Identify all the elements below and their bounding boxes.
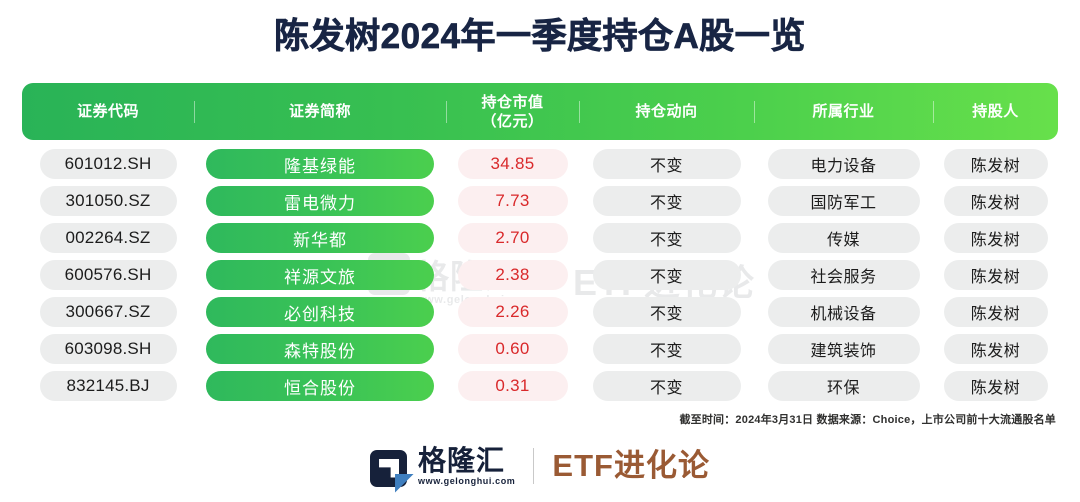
brand-divider (533, 448, 534, 484)
name-pill: 新华都 (206, 223, 434, 253)
holder-pill: 陈发树 (944, 223, 1048, 253)
industry-pill: 环保 (768, 371, 920, 401)
column-header-holder: 持股人 (933, 102, 1058, 121)
holder-pill: 陈发树 (944, 371, 1048, 401)
trend-pill: 不变 (593, 186, 741, 216)
cell-trend: 不变 (579, 297, 754, 327)
cell-holder: 陈发树 (933, 149, 1058, 179)
cell-holder: 陈发树 (933, 371, 1058, 401)
cell-holder: 陈发树 (933, 186, 1058, 216)
cell-name: 新华都 (194, 223, 446, 253)
cell-name: 隆基绿能 (194, 149, 446, 179)
cell-trend: 不变 (579, 371, 754, 401)
cell-name: 森特股份 (194, 334, 446, 364)
column-header-name-label: 证券简称 (289, 103, 351, 120)
name-pill: 雷电微力 (206, 186, 434, 216)
column-header-industry: 所属行业 (754, 102, 933, 121)
table-row: 300667.SZ 必创科技 2.26 不变 机械设备 陈发树 (22, 294, 1058, 330)
code-pill: 002264.SZ (40, 223, 177, 253)
cell-holder: 陈发树 (933, 223, 1058, 253)
column-header-value-label: 持仓市值 (481, 94, 543, 111)
industry-pill: 传媒 (768, 223, 920, 253)
name-pill: 隆基绿能 (206, 149, 434, 179)
table-row: 603098.SH 森特股份 0.60 不变 建筑装饰 陈发树 (22, 331, 1058, 367)
code-pill: 832145.BJ (40, 371, 177, 401)
table-row: 301050.SZ 雷电微力 7.73 不变 国防军工 陈发树 (22, 183, 1058, 219)
table-row: 002264.SZ 新华都 2.70 不变 传媒 陈发树 (22, 220, 1058, 256)
column-header-name: 证券简称 (194, 102, 446, 121)
cell-code: 002264.SZ (22, 223, 194, 253)
industry-pill: 建筑装饰 (768, 334, 920, 364)
trend-pill: 不变 (593, 297, 741, 327)
column-header-trend-label: 持仓动向 (635, 103, 697, 120)
column-header-value: 持仓市值 （亿元） (446, 93, 579, 131)
cell-name: 祥源文旅 (194, 260, 446, 290)
code-pill: 603098.SH (40, 334, 177, 364)
column-header-code: 证券代码 (22, 102, 194, 121)
cell-industry: 传媒 (754, 223, 933, 253)
value-pill: 2.38 (458, 260, 568, 290)
cell-code: 601012.SH (22, 149, 194, 179)
cell-industry: 机械设备 (754, 297, 933, 327)
table-header-row: 证券代码 证券简称 持仓市值 （亿元） 持仓动向 所属行业 持股人 (22, 83, 1058, 140)
cell-industry: 国防军工 (754, 186, 933, 216)
cell-value: 2.70 (446, 223, 579, 253)
brand-name: 格隆汇 (418, 446, 515, 476)
cell-name: 恒合股份 (194, 371, 446, 401)
cell-trend: 不变 (579, 223, 754, 253)
holder-pill: 陈发树 (944, 334, 1048, 364)
value-pill: 2.70 (458, 223, 568, 253)
cell-value: 2.26 (446, 297, 579, 327)
code-pill: 601012.SH (40, 149, 177, 179)
cell-trend: 不变 (579, 260, 754, 290)
holder-pill: 陈发树 (944, 149, 1048, 179)
name-pill: 恒合股份 (206, 371, 434, 401)
cell-code: 301050.SZ (22, 186, 194, 216)
cell-code: 300667.SZ (22, 297, 194, 327)
holder-pill: 陈发树 (944, 186, 1048, 216)
cell-industry: 环保 (754, 371, 933, 401)
holder-pill: 陈发树 (944, 260, 1048, 290)
code-pill: 300667.SZ (40, 297, 177, 327)
industry-pill: 社会服务 (768, 260, 920, 290)
cell-value: 34.85 (446, 149, 579, 179)
cell-trend: 不变 (579, 334, 754, 364)
industry-pill: 国防军工 (768, 186, 920, 216)
table-row: 601012.SH 隆基绿能 34.85 不变 电力设备 陈发树 (22, 146, 1058, 182)
column-header-trend: 持仓动向 (579, 102, 754, 121)
column-header-code-label: 证券代码 (77, 103, 139, 120)
cell-value: 7.73 (446, 186, 579, 216)
cell-value: 0.60 (446, 334, 579, 364)
column-header-industry-label: 所属行业 (812, 103, 874, 120)
cell-code: 832145.BJ (22, 371, 194, 401)
product-name: ETF进化论 (552, 449, 710, 483)
name-pill: 必创科技 (206, 297, 434, 327)
cell-industry: 建筑装饰 (754, 334, 933, 364)
cell-industry: 社会服务 (754, 260, 933, 290)
gelonghui-text: 格隆汇 www.gelonghui.com (418, 446, 515, 487)
code-pill: 600576.SH (40, 260, 177, 290)
trend-pill: 不变 (593, 149, 741, 179)
industry-pill: 电力设备 (768, 149, 920, 179)
name-pill: 森特股份 (206, 334, 434, 364)
page-title: 陈发树2024年一季度持仓A股一览 (0, 14, 1080, 60)
table-row: 832145.BJ 恒合股份 0.31 不变 环保 陈发树 (22, 368, 1058, 404)
cell-name: 雷电微力 (194, 186, 446, 216)
table-body: 601012.SH 隆基绿能 34.85 不变 电力设备 陈发树 301050.… (22, 146, 1058, 404)
cell-value: 2.38 (446, 260, 579, 290)
holder-pill: 陈发树 (944, 297, 1048, 327)
cell-trend: 不变 (579, 186, 754, 216)
column-header-value-unit: （亿元） (446, 112, 579, 131)
column-header-holder-label: 持股人 (972, 103, 1019, 120)
gelonghui-logo-icon (370, 450, 407, 487)
name-pill: 祥源文旅 (206, 260, 434, 290)
cell-holder: 陈发树 (933, 260, 1058, 290)
cell-holder: 陈发树 (933, 297, 1058, 327)
trend-pill: 不变 (593, 334, 741, 364)
cell-code: 600576.SH (22, 260, 194, 290)
value-pill: 34.85 (458, 149, 568, 179)
table-row: 600576.SH 祥源文旅 2.38 不变 社会服务 陈发树 (22, 257, 1058, 293)
value-pill: 0.60 (458, 334, 568, 364)
code-pill: 301050.SZ (40, 186, 177, 216)
cell-industry: 电力设备 (754, 149, 933, 179)
cell-name: 必创科技 (194, 297, 446, 327)
gelonghui-brand: 格隆汇 www.gelonghui.com (370, 446, 515, 487)
trend-pill: 不变 (593, 223, 741, 253)
brand-url: www.gelonghui.com (418, 476, 515, 487)
source-footnote: 截至时间：2024年3月31日 数据来源：Choice，上市公司前十大流通股名单 (679, 411, 1056, 427)
industry-pill: 机械设备 (768, 297, 920, 327)
cell-holder: 陈发树 (933, 334, 1058, 364)
cell-value: 0.31 (446, 371, 579, 401)
trend-pill: 不变 (593, 260, 741, 290)
holdings-table: 证券代码 证券简称 持仓市值 （亿元） 持仓动向 所属行业 持股人 601012… (22, 83, 1058, 405)
value-pill: 7.73 (458, 186, 568, 216)
cell-code: 603098.SH (22, 334, 194, 364)
brand-footer: 格隆汇 www.gelonghui.com ETF进化论 (0, 440, 1080, 492)
cell-trend: 不变 (579, 149, 754, 179)
value-pill: 2.26 (458, 297, 568, 327)
trend-pill: 不变 (593, 371, 741, 401)
infographic-page: 陈发树2024年一季度持仓A股一览 格隆汇 www.gelonghui.com … (0, 0, 1080, 502)
value-pill: 0.31 (458, 371, 568, 401)
